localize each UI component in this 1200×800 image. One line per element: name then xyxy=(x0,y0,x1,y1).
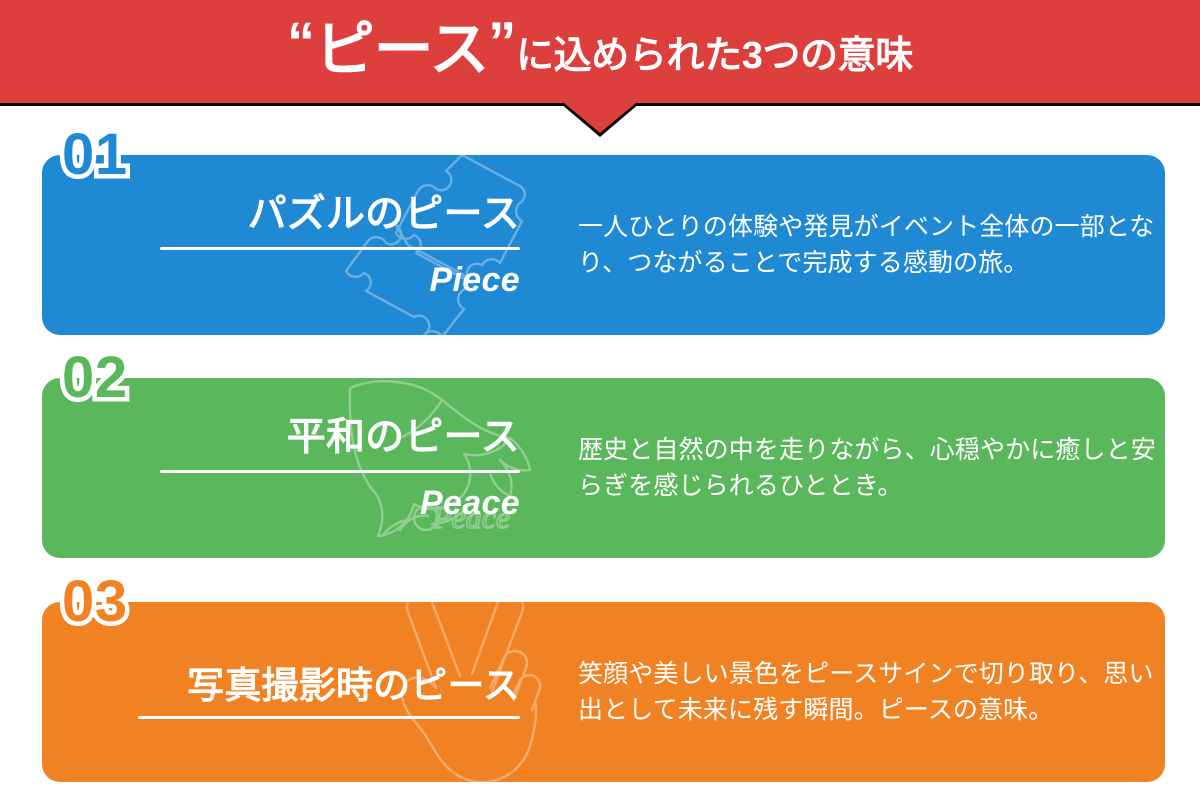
card-1-description-wrap: 一人ひとりの体験や発見がイベント全体の一部となり、つながることで完成する感動の旅… xyxy=(578,155,1165,335)
header-notch-icon xyxy=(564,103,636,133)
card-1-number-badge: 01 xyxy=(62,126,128,184)
card-3-description-wrap: 笑顔や美しい景色をピースサインで切り取り、思い出として未来に残す瞬間。ピースの意… xyxy=(578,602,1165,782)
card-3-title: 写真撮影時のピース xyxy=(187,665,520,706)
card-1-title-block: パズルのピース Piece xyxy=(100,155,520,335)
card-2-title-block: 平和のピース Peace xyxy=(100,378,520,558)
infographic-page: “ピース”に込められた3つの意味 パズルのピース Piece 一人ひとりの体験や… xyxy=(0,0,1200,800)
card-3-title-block: 写真撮影時のピース xyxy=(100,602,520,782)
card-2-title-underline xyxy=(160,470,520,473)
card-3-title-underline xyxy=(138,716,520,719)
page-title: “ピース”に込められた3つの意味 xyxy=(0,0,1200,103)
card-2-number-badge: 02 xyxy=(62,349,128,407)
card-1-title-underline xyxy=(160,247,520,250)
card-2-description-wrap: 歴史と自然の中を走りながら、心穏やかに癒しと安らぎを感じられるひととき。 xyxy=(578,378,1165,558)
card-1-title: パズルのピース xyxy=(248,193,520,237)
card-2-description: 歴史と自然の中を走りながら、心穏やかに癒しと安らぎを感じられるひととき。 xyxy=(578,432,1165,505)
title-close-quote: ” xyxy=(488,14,516,70)
meaning-card-3[interactable]: 写真撮影時のピース 笑顔や美しい景色をピースサインで切り取り、思い出として未来に… xyxy=(42,602,1165,782)
meaning-card-2[interactable]: Peace 平和のピース Peace 歴史と自然の中を走りながら、心穏やかに癒し… xyxy=(42,378,1165,558)
title-open-quote: “ xyxy=(287,14,315,70)
title-keyword: ピース xyxy=(315,20,488,80)
card-3-number-badge: 03 xyxy=(62,573,128,631)
card-1-subtitle: Piece xyxy=(429,263,520,297)
card-2-subtitle: Peace xyxy=(420,486,520,520)
card-3-description: 笑顔や美しい景色をピースサインで切り取り、思い出として未来に残す瞬間。ピースの意… xyxy=(578,656,1165,729)
meaning-card-1[interactable]: パズルのピース Piece 一人ひとりの体験や発見がイベント全体の一部となり、つ… xyxy=(42,155,1165,335)
card-2-title: 平和のピース xyxy=(287,416,520,460)
card-1-description: 一人ひとりの体験や発見がイベント全体の一部となり、つながることで完成する感動の旅… xyxy=(578,209,1165,282)
header-banner: “ピース”に込められた3つの意味 xyxy=(0,0,1200,103)
title-rest: に込められた3つの意味 xyxy=(516,37,913,75)
